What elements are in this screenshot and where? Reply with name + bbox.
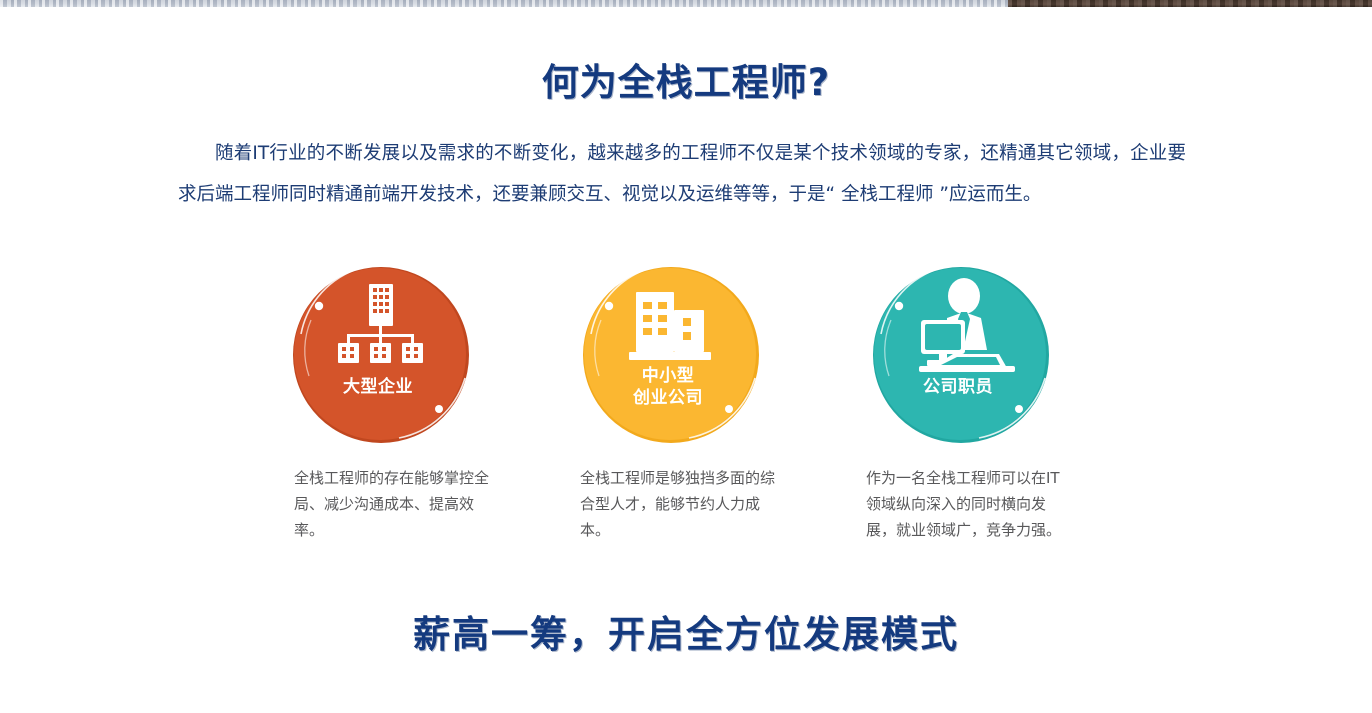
card-startup-company: 中小型 创业公司 全栈工程师是够独挡多面的综合型人才，能够节约人力成本。 <box>576 258 796 543</box>
footer-headline: 薪高一筹，开启全方位发展模式 <box>0 604 1372 658</box>
badge-circle-graphic <box>869 258 1059 453</box>
card-caption-large-enterprise: 全栈工程师的存在能够掌控全局、减少沟通成本、提高效率。 <box>294 465 502 543</box>
badge-startup-company: 中小型 创业公司 <box>579 258 769 453</box>
audience-cards: 大型企业 全栈工程师的存在能够掌控全局、减少沟通成本、提高效率。 <box>286 258 1086 543</box>
badge-circle-graphic <box>289 258 479 453</box>
card-caption-startup-company: 全栈工程师是够独挡多面的综合型人才，能够节约人力成本。 <box>580 465 788 543</box>
badge-ring-dot-bottom <box>435 405 443 413</box>
top-strip-left-band <box>0 0 1008 7</box>
top-image-strip <box>0 0 1372 7</box>
badge-ring-dot-top <box>895 302 903 310</box>
intro-paragraph: 随着IT行业的不断发展以及需求的不断变化，越来越多的工程师不仅是某个技术领域的专… <box>178 133 1186 215</box>
badge-ring-dot-bottom <box>1015 405 1023 413</box>
card-caption-company-employee: 作为一名全栈工程师可以在IT领域纵向深入的同时横向发展，就业领域广，竞争力强。 <box>866 465 1074 543</box>
badge-ring-dot-top <box>605 302 613 310</box>
top-strip-right-band <box>1008 0 1372 7</box>
badge-company-employee: 公司职员 <box>869 258 1059 453</box>
page-title: 何为全栈工程师? <box>0 52 1372 106</box>
badge-ring-dot-bottom <box>725 405 733 413</box>
card-large-enterprise: 大型企业 全栈工程师的存在能够掌控全局、减少沟通成本、提高效率。 <box>286 258 506 543</box>
card-company-employee: 公司职员 作为一名全栈工程师可以在IT领域纵向深入的同时横向发展，就业领域广，竞… <box>866 258 1086 543</box>
badge-large-enterprise: 大型企业 <box>289 258 479 453</box>
badge-circle-graphic <box>579 258 769 453</box>
badge-ring-dot-top <box>315 302 323 310</box>
